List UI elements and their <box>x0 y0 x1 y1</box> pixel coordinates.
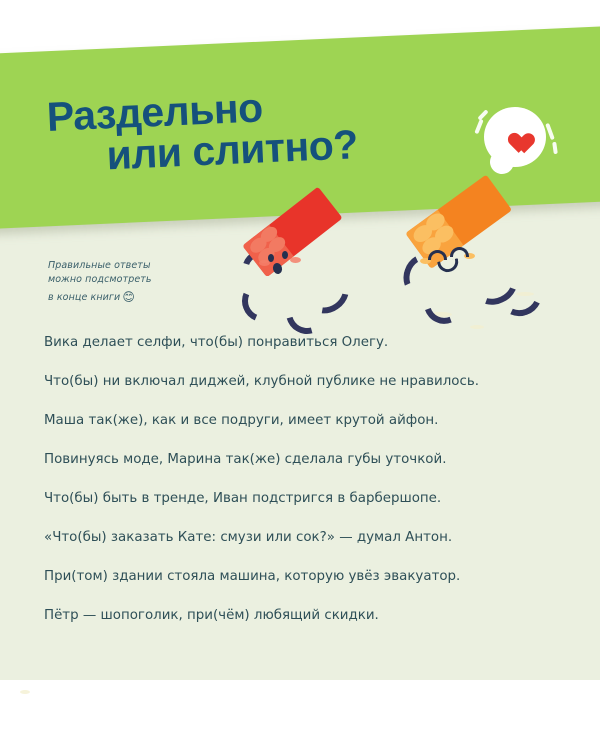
answers-note: Правильные ответы можно подсмотреть в ко… <box>48 259 238 306</box>
exercise-sentence: При(том) здании стояла машина, которую у… <box>44 570 564 609</box>
motion-line-icon <box>545 123 555 140</box>
note-line-3: в конце книги <box>48 292 120 303</box>
smiley-face-icon: 😊 <box>122 290 135 304</box>
red-lego-face <box>260 250 310 280</box>
page-title: Раздельно или слитно? <box>46 84 359 177</box>
exercise-sentence-list: Вика делает селфи, что(бы) понравиться О… <box>44 336 564 648</box>
orange-lego-character <box>398 180 538 320</box>
exercise-sentence: Повинуясь моде, Марина так(же) сделала г… <box>44 453 564 492</box>
blush-icon <box>290 257 301 263</box>
exercise-sentence: Вика делает селфи, что(бы) понравиться О… <box>44 336 564 375</box>
eye-icon <box>268 254 274 262</box>
decorative-speck <box>470 325 484 329</box>
mouth-icon <box>272 262 284 275</box>
heart-icon <box>503 125 527 147</box>
exercise-sentence: Пётр — шопоголик, при(чём) любящий скидк… <box>44 609 564 648</box>
eye-icon <box>450 247 469 257</box>
mouth-icon <box>437 258 460 273</box>
note-line-1: Правильные ответы <box>48 260 151 271</box>
note-line-2: можно подсмотреть <box>48 274 152 285</box>
title-line-2: или слитно? <box>106 125 359 175</box>
orange-lego-face <box>424 246 480 276</box>
exercise-sentence: Что(бы) ни включал диджей, клубной публи… <box>44 375 564 414</box>
exercise-sentence: «Что(бы) заказать Кате: смузи или сок?» … <box>44 531 564 570</box>
exercise-sentence: Маша так(же), как и все подруги, имеет к… <box>44 414 564 453</box>
exercise-sentence: Что(бы) быть в тренде, Иван подстригся в… <box>44 492 564 531</box>
motion-line-icon <box>474 119 483 134</box>
page-root: Раздельно или слитно? <box>0 0 600 750</box>
motion-line-icon <box>552 142 558 154</box>
eye-icon <box>428 250 447 260</box>
red-lego-character <box>232 192 362 322</box>
eye-icon <box>282 251 288 259</box>
decorative-speck <box>20 690 30 694</box>
motion-line-icon <box>477 109 488 120</box>
